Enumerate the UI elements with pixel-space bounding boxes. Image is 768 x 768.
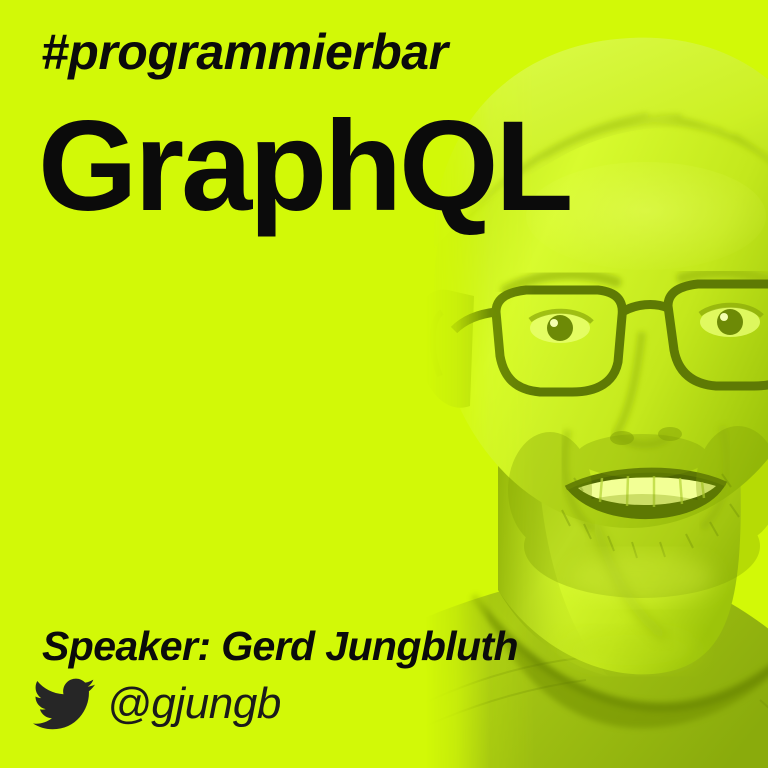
episode-title: GraphQL — [38, 103, 570, 231]
twitter-bird-icon — [33, 678, 95, 730]
twitter-handle-label: @gjungb — [107, 681, 281, 727]
twitter-handle-row: @gjungb — [33, 678, 281, 730]
podcast-episode-poster: #programmierbar GraphQL Speaker: Gerd Ju… — [0, 0, 768, 768]
hashtag-label: #programmierbar — [41, 24, 448, 80]
speaker-name-label: Speaker: Gerd Jungbluth — [42, 623, 518, 670]
